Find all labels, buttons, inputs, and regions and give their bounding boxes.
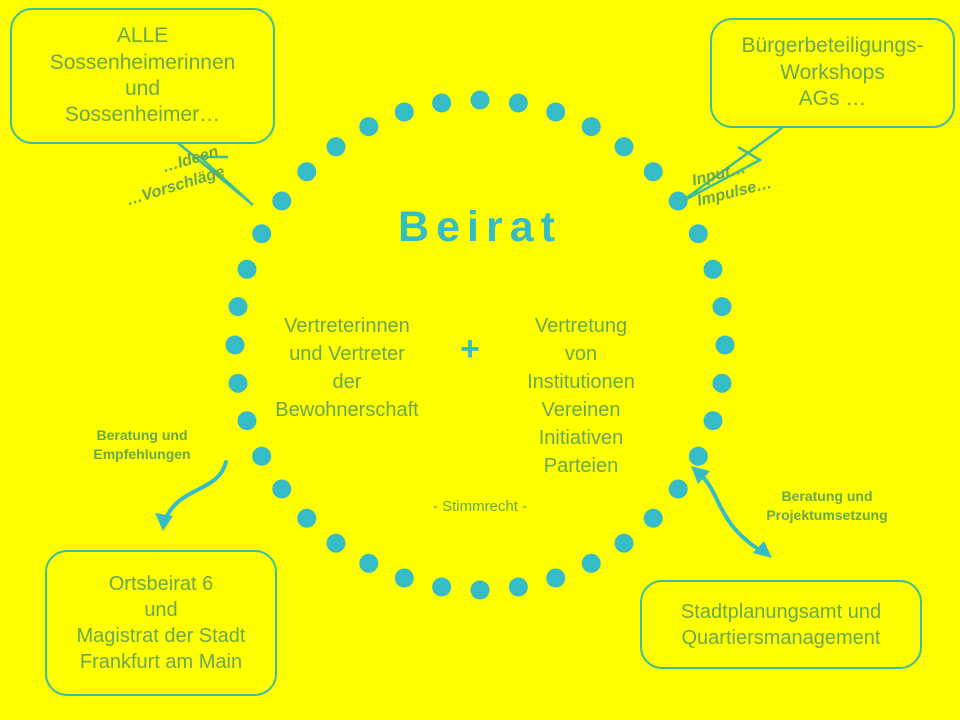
ring-dot bbox=[582, 554, 601, 573]
ring-dot bbox=[252, 447, 271, 466]
ring-dot bbox=[704, 260, 723, 279]
ring-dot bbox=[582, 117, 601, 136]
ring-dot bbox=[615, 534, 634, 553]
bubble-workshops-line-2: Workshops bbox=[780, 60, 885, 86]
column-institutionen-line-2: von bbox=[492, 340, 670, 368]
annotation-beratung-empfehlungen-line-1: Beratung und bbox=[72, 426, 212, 445]
ring-dot bbox=[237, 260, 256, 279]
column-bewohnerschaft-line-4: Bewohnerschaft bbox=[258, 396, 436, 424]
annotation-beratung-projekt-line-2: Projektumsetzung bbox=[742, 506, 912, 525]
ring-dot bbox=[712, 374, 731, 393]
column-institutionen-line-6: Parteien bbox=[492, 452, 670, 480]
bubble-citizens-line-2: Sossenheimerinnen bbox=[50, 50, 236, 76]
column-bewohnerschaft-line-1: Vertreterinnen bbox=[258, 312, 436, 340]
ring-dot bbox=[509, 577, 528, 596]
ring-dot bbox=[712, 297, 731, 316]
ring-dot bbox=[644, 162, 663, 181]
annotation-beratung-projekt-line-1: Beratung und bbox=[742, 487, 912, 506]
ring-dot bbox=[395, 569, 414, 588]
ring-dot bbox=[226, 336, 245, 355]
box-ortsbeirat: Ortsbeirat 6 und Magistrat der Stadt Fra… bbox=[45, 550, 277, 696]
ring-dot bbox=[615, 137, 634, 156]
ring-dot bbox=[359, 554, 378, 573]
ring-dot bbox=[297, 509, 316, 528]
annotation-beratung-empfehlungen: Beratung und Empfehlungen bbox=[72, 426, 212, 464]
box-stadtplanungsamt: Stadtplanungsamt und Quartiersmanagement bbox=[640, 580, 922, 669]
ring-dot bbox=[297, 162, 316, 181]
ring-dot bbox=[359, 117, 378, 136]
ring-dot bbox=[237, 411, 256, 430]
ring-dot bbox=[704, 411, 723, 430]
box-stadtplanungsamt-line-1: Stadtplanungsamt und bbox=[681, 599, 881, 625]
column-institutionen-line-1: Vertretung bbox=[492, 312, 670, 340]
ring-dot bbox=[395, 102, 414, 121]
box-ortsbeirat-line-3: Magistrat der Stadt bbox=[77, 623, 246, 649]
ring-dot bbox=[272, 480, 291, 499]
box-stadtplanungsamt-line-2: Quartiersmanagement bbox=[682, 625, 881, 651]
column-bewohnerschaft-line-3: der bbox=[258, 368, 436, 396]
ring-dot bbox=[229, 297, 248, 316]
ring-dot bbox=[326, 534, 345, 553]
annotation-beratung-empfehlungen-line-2: Empfehlungen bbox=[72, 445, 212, 464]
stimmrecht-footnote: - Stimmrecht - bbox=[330, 498, 630, 515]
ring-dot bbox=[432, 577, 451, 596]
ring-dot bbox=[669, 480, 688, 499]
ring-dot bbox=[546, 102, 565, 121]
arrow-beratung-empfehlungen bbox=[155, 462, 226, 531]
plus-icon: + bbox=[440, 330, 500, 369]
ring-dot bbox=[471, 581, 490, 600]
bubble-workshops-line-1: Bürgerbeteiligungs- bbox=[741, 33, 923, 59]
column-bewohnerschaft-line-2: und Vertreter bbox=[258, 340, 436, 368]
ring-dot bbox=[644, 509, 663, 528]
ring-dot bbox=[471, 91, 490, 110]
bubble-citizens: ALLE Sossenheimerinnen und Sossenheimer… bbox=[10, 8, 275, 144]
column-institutionen-line-4: Vereinen bbox=[492, 396, 670, 424]
column-institutionen-line-3: Institutionen bbox=[492, 368, 670, 396]
ring-dot bbox=[432, 94, 451, 113]
box-ortsbeirat-line-4: Frankfurt am Main bbox=[80, 649, 242, 675]
ring-dot bbox=[326, 137, 345, 156]
ring-dot bbox=[509, 94, 528, 113]
ring-dot bbox=[546, 569, 565, 588]
bubble-workshops-line-3: AGs … bbox=[799, 86, 867, 112]
beirat-title: Beirat bbox=[0, 203, 960, 252]
column-institutionen-line-5: Initiativen bbox=[492, 424, 670, 452]
bubble-workshops: Bürgerbeteiligungs- Workshops AGs … bbox=[710, 18, 955, 128]
bubble-citizens-line-4: Sossenheimer… bbox=[65, 102, 220, 128]
ring-dot bbox=[229, 374, 248, 393]
bubble-citizens-line-3: und bbox=[125, 76, 160, 102]
box-ortsbeirat-line-1: Ortsbeirat 6 bbox=[109, 571, 213, 597]
column-bewohnerschaft: Vertreterinnen und Vertreter der Bewohne… bbox=[258, 312, 436, 424]
diagram-canvas: ALLE Sossenheimerinnen und Sossenheimer…… bbox=[0, 0, 960, 720]
annotation-beratung-projektumsetzung: Beratung und Projektumsetzung bbox=[742, 487, 912, 525]
ring-dot bbox=[689, 447, 708, 466]
box-ortsbeirat-line-2: und bbox=[144, 597, 177, 623]
column-institutionen: Vertretung von Institutionen Vereinen In… bbox=[492, 312, 670, 480]
bubble-citizens-line-1: ALLE bbox=[117, 23, 168, 49]
ring-dot bbox=[716, 336, 735, 355]
